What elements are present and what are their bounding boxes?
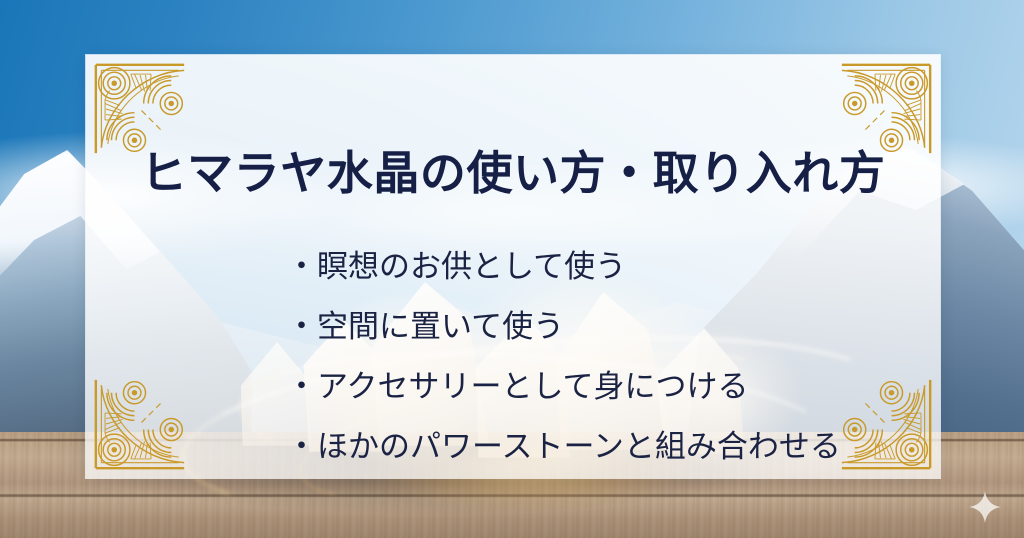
list-item: ・瞑想のお供として使う [198, 251, 880, 282]
list-item: ・ほかのパワーストーンと組み合わせる [198, 431, 880, 462]
content-card: ヒマラヤ水晶の使い方・取り入れ方 ・瞑想のお供として使う ・空間に置いて使う ・… [86, 55, 940, 478]
list-item: ・空間に置いて使う [198, 311, 880, 342]
art-deco-corner-ornament-icon [94, 378, 186, 470]
infographic-canvas: ヒマラヤ水晶の使い方・取り入れ方 ・瞑想のお供として使う ・空間に置いて使う ・… [0, 0, 1024, 538]
list-item: ・アクセサリーとして身につける [198, 371, 880, 402]
page-title: ヒマラヤ水晶の使い方・取り入れ方 [86, 149, 940, 199]
usage-bullet-list: ・瞑想のお供として使う ・空間に置いて使う ・アクセサリーとして身につける ・ほ… [198, 251, 880, 462]
four-point-sparkle-icon [968, 490, 1002, 524]
art-deco-corner-ornament-icon [94, 63, 186, 155]
art-deco-corner-ornament-icon [840, 63, 932, 155]
